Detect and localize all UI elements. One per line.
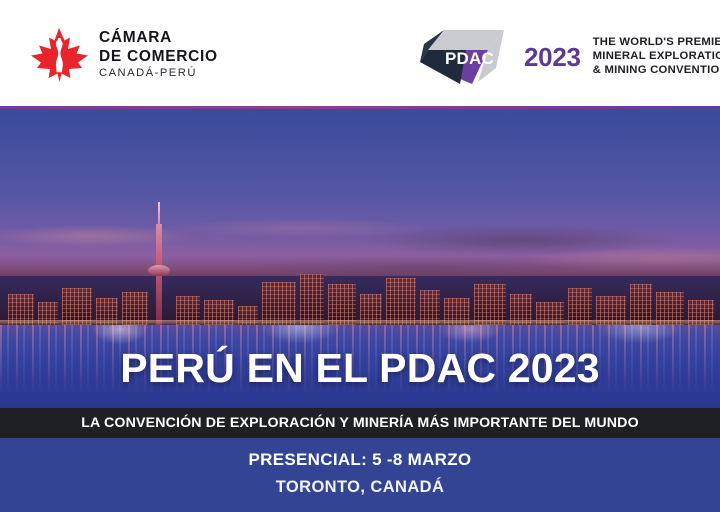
cn-tower-pod [148,265,170,276]
pdac-tagline: THE WORLD'S PREMIER MINERAL EXPLORATION … [593,36,720,77]
chamber-line-3: CANADÁ-PERÚ [99,68,218,79]
cn-tower [156,224,162,328]
pdac-diamond-icon: PDAC [418,28,514,86]
chamber-wordmark: CÁMARA DE COMERCIO CANADÁ-PERÚ [99,30,218,79]
chamber-line-1: CÁMARA [99,30,218,46]
subtitle-bar: LA CONVENCIÓN DE EXPLORACIÓN Y MINERÍA M… [0,408,720,438]
event-dates: PRESENCIAL: 5 -8 MARZO [0,450,720,470]
event-details-footer: PRESENCIAL: 5 -8 MARZO TORONTO, CANADÁ [0,438,720,512]
event-poster: CÁMARA DE COMERCIO CANADÁ-PERÚ PDAC 2023… [0,0,720,512]
poster-header: CÁMARA DE COMERCIO CANADÁ-PERÚ PDAC 2023… [0,0,720,106]
chamber-of-commerce-logo: CÁMARA DE COMERCIO CANADÁ-PERÚ [28,26,218,84]
pdac-tagline-line-2: MINERAL EXPLORATION [593,50,720,64]
pdac-tagline-line-3: & MINING CONVENTION [593,64,720,78]
page-title: PERÚ EN EL PDAC 2023 [0,348,720,389]
maple-leaf-llama-icon [28,26,90,84]
event-location: TORONTO, CANADÁ [0,478,720,497]
pdac-logo: PDAC 2023 THE WORLD'S PREMIER MINERAL EX… [418,28,720,86]
photo-top-accent-line [0,106,720,109]
pdac-tagline-line-1: THE WORLD'S PREMIER [593,36,720,50]
chamber-line-2: DE COMERCIO [99,49,218,65]
city-skyline [0,256,720,328]
svg-text:PDAC: PDAC [445,49,494,68]
pdac-year: 2023 [524,42,581,73]
subtitle-text: LA CONVENCIÓN DE EXPLORACIÓN Y MINERÍA M… [81,415,639,431]
